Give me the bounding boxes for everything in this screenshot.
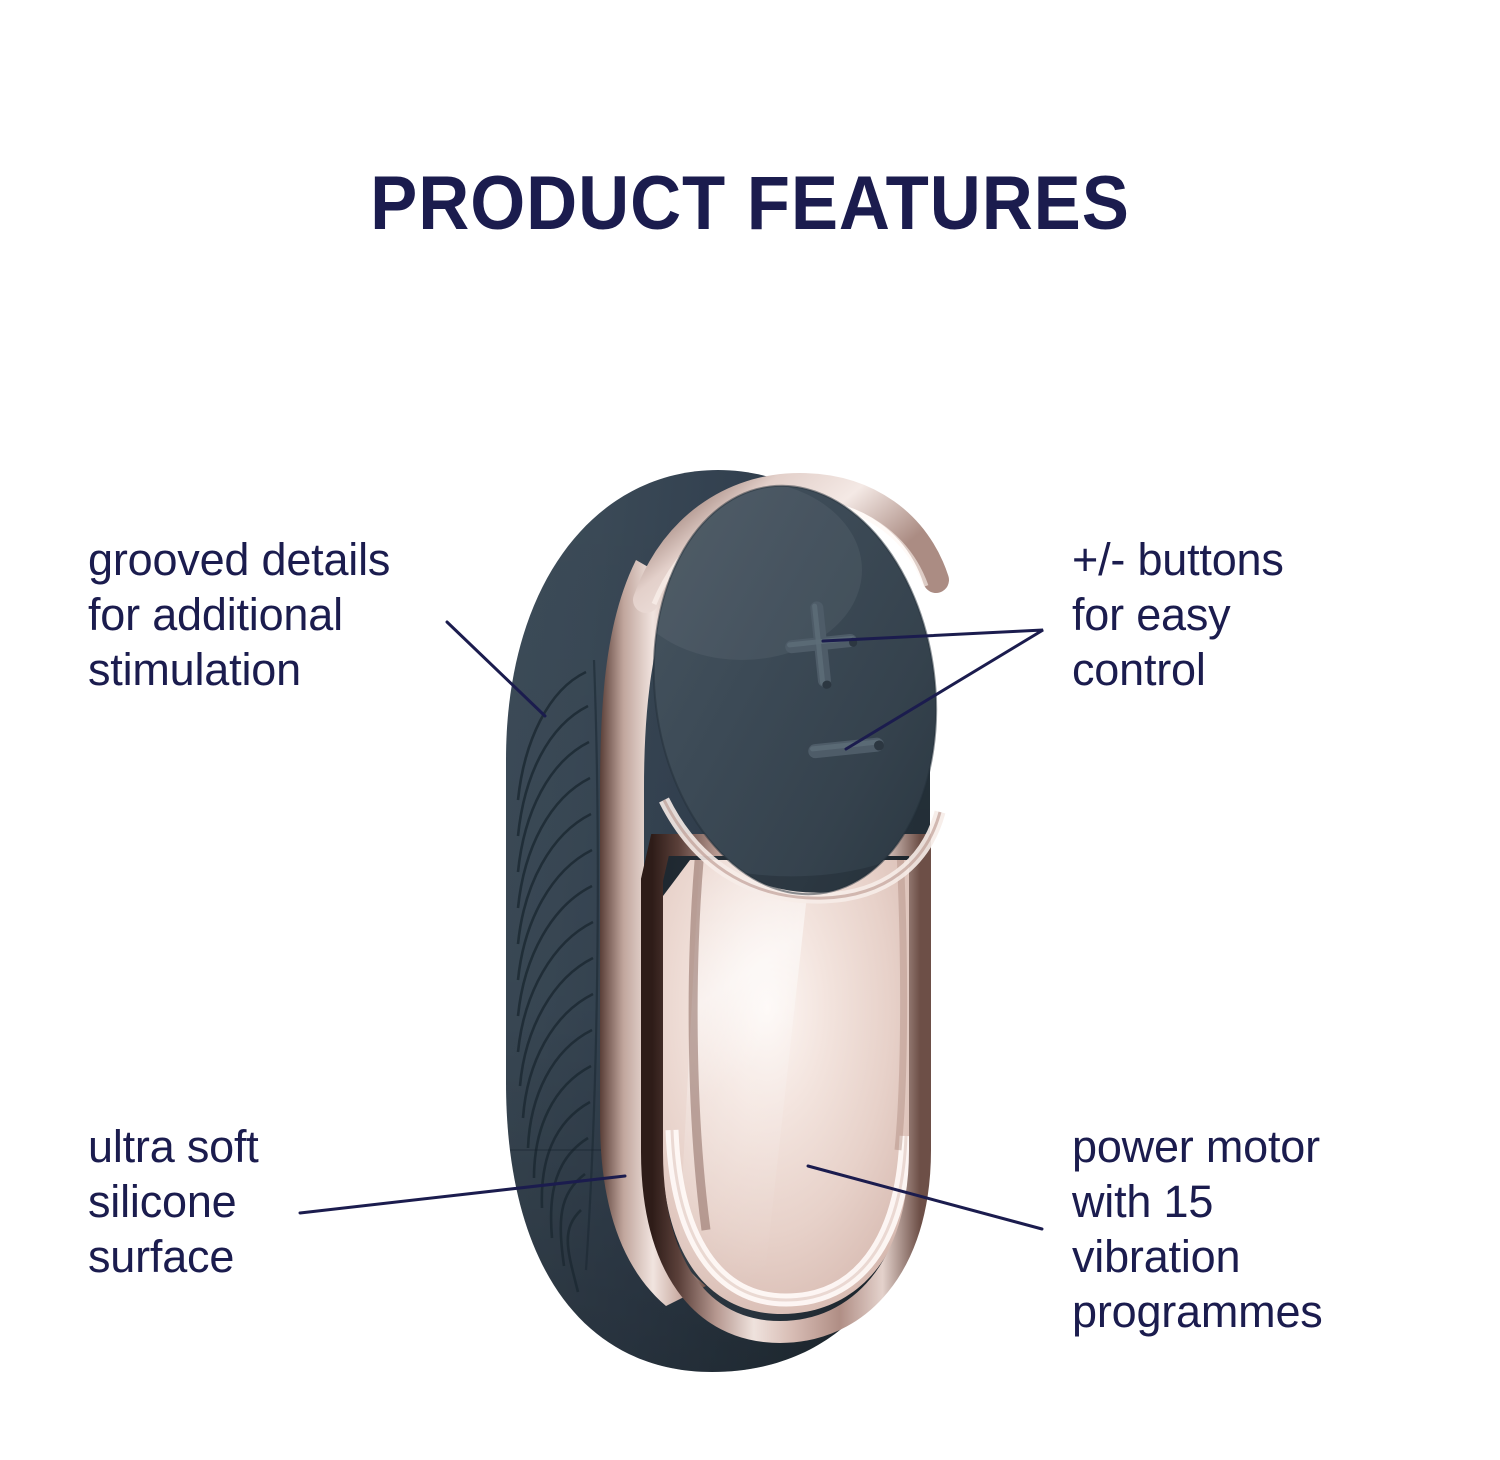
product-features-infographic: PRODUCT FEATURES [0, 0, 1500, 1460]
callout-grooved-details: grooved details for additional stimulati… [88, 533, 508, 698]
callout-ultra-soft-silicone: ultra soft silicone surface [88, 1120, 468, 1285]
callout-power-motor: power motor with 15 vibration programmes [1072, 1120, 1472, 1340]
power-motor-panel [662, 850, 912, 1320]
callout-plus-minus-buttons: +/- buttons for easy control [1072, 533, 1472, 698]
